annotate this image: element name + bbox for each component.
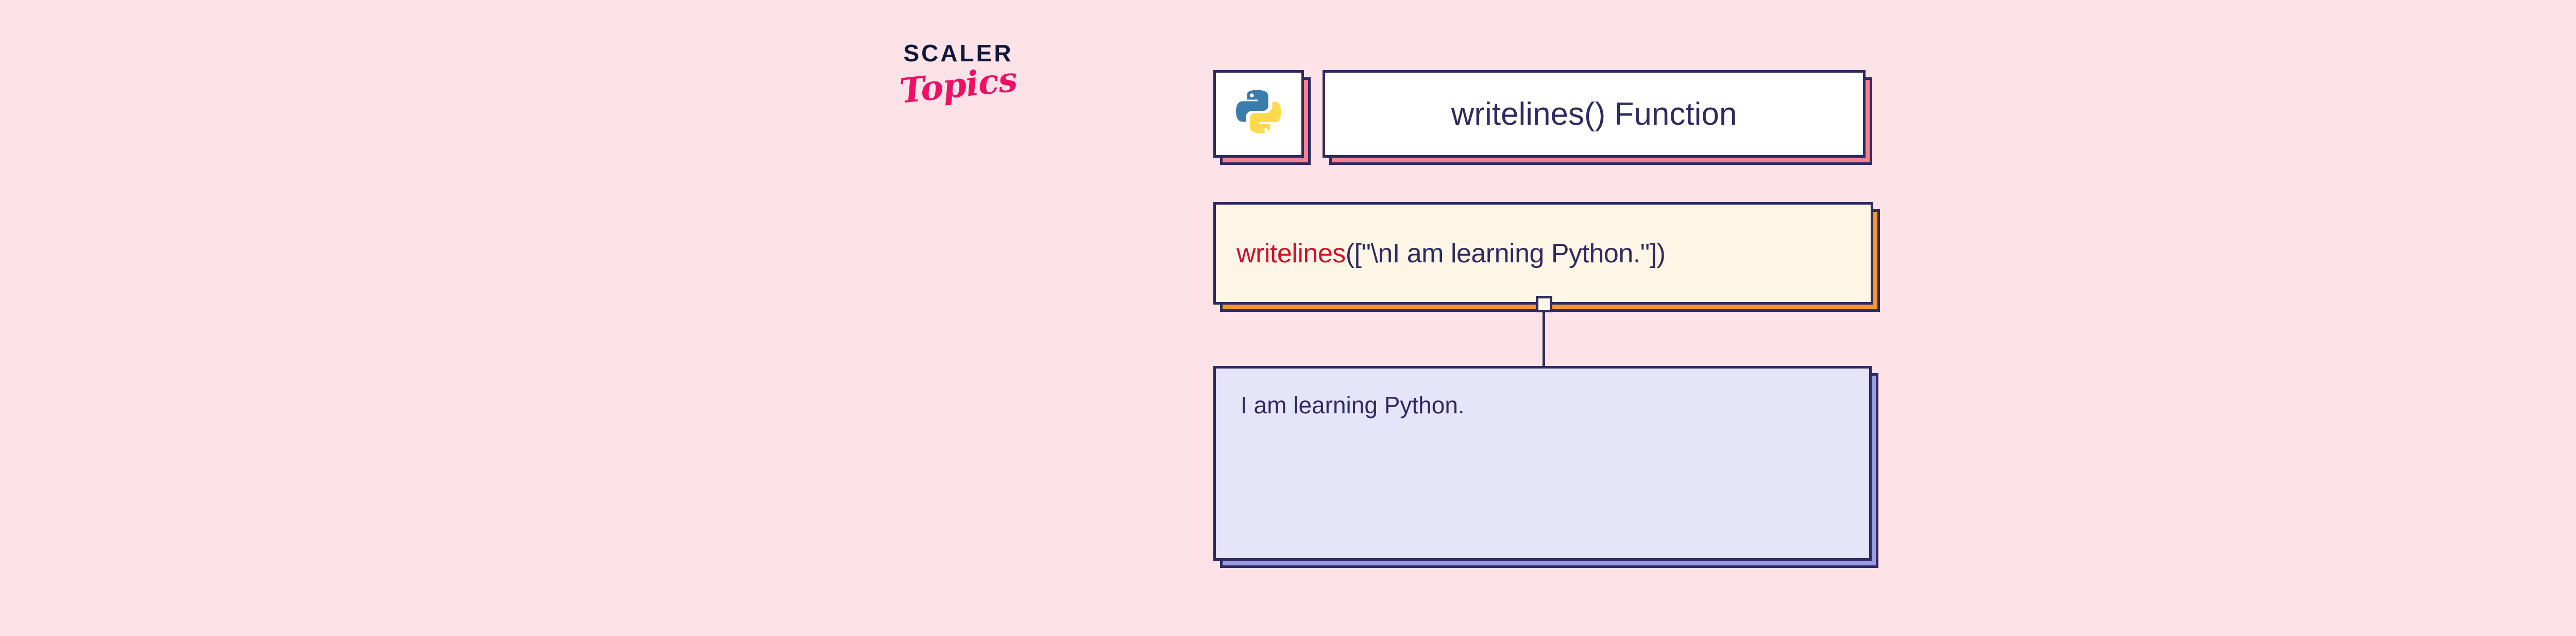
- title-box: writelines() Function: [1323, 70, 1866, 158]
- output-box: I am learning Python.: [1213, 366, 1872, 561]
- python-logo-icon: [1232, 87, 1285, 141]
- connector-line: [1543, 304, 1545, 367]
- python-icon-box: [1213, 70, 1304, 158]
- scaler-topics-logo: SCALER Topics: [871, 41, 1046, 134]
- page-canvas: SCALER Topics writelines() Function writ…: [0, 0, 2576, 636]
- code-box: writelines(["\nI am learning Python."]): [1213, 202, 1873, 305]
- page-title: writelines() Function: [1451, 96, 1737, 132]
- code-arguments: (["\nI am learning Python."]): [1346, 239, 1666, 269]
- logo-topics-wordmark: Topics: [869, 59, 1047, 111]
- connector-tab: [1536, 296, 1552, 312]
- code-function-name: writelines: [1236, 239, 1346, 269]
- code-snippet: writelines(["\nI am learning Python."]): [1216, 238, 1665, 269]
- output-text: I am learning Python.: [1241, 391, 1465, 419]
